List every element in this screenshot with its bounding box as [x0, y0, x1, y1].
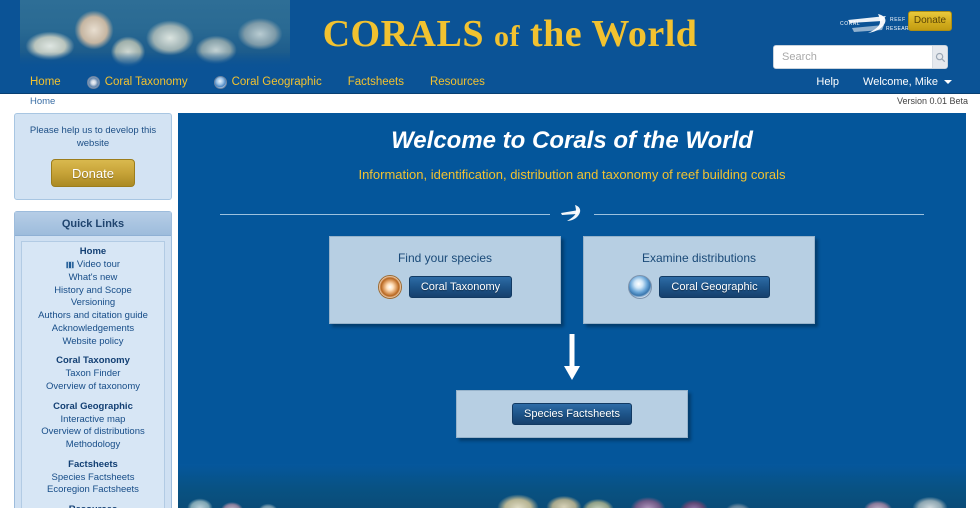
quick-links-label: What's new	[69, 272, 118, 284]
quick-links-label: Authors and citation guide	[38, 310, 148, 322]
taxonomy-seal-icon	[378, 275, 402, 299]
geographic-seal-icon	[214, 76, 227, 89]
site-header: CORALS of the World CORAL REEF RESEARCH …	[0, 0, 980, 70]
quick-links-list: HomeVideo tourWhat's newHistory and Scop…	[21, 241, 165, 508]
quick-links-item[interactable]: Interactive map	[22, 413, 164, 426]
quick-links-section-header[interactable]: Home	[22, 246, 164, 259]
main-navigation: Home Coral Taxonomy Coral Geographic Fac…	[0, 70, 980, 94]
svg-text:CORAL: CORAL	[840, 21, 860, 27]
quick-links-label: Species Factsheets	[52, 472, 135, 484]
quick-links-label: Acknowledgements	[52, 323, 134, 335]
user-menu-label: Welcome, Mike	[863, 76, 938, 88]
nav-user-area: Help Welcome, Mike	[816, 70, 952, 94]
quick-links-section-header[interactable]: Coral Geographic	[22, 400, 164, 413]
quick-links-section-header[interactable]: Coral Taxonomy	[22, 355, 164, 368]
site-title-corals: CORALS	[323, 13, 484, 55]
page-title: Welcome to Corals of the World	[178, 127, 966, 155]
version-label: Version 0.01 Beta	[897, 96, 968, 106]
geographic-seal-icon	[628, 275, 652, 299]
left-sidebar: Please help us to develop this website D…	[14, 113, 172, 508]
user-menu[interactable]: Welcome, Mike	[863, 76, 952, 88]
quick-links-label: Coral Taxonomy	[56, 355, 130, 367]
nav-item-resources[interactable]: Resources	[430, 76, 485, 88]
quick-links-label: Ecoregion Factsheets	[47, 484, 139, 496]
quick-links-item[interactable]: Versioning	[22, 297, 164, 310]
nav-item-label: Resources	[430, 76, 485, 88]
quick-links-item[interactable]: Overview of taxonomy	[22, 380, 164, 393]
factsheets-card-wrap: Species Factsheets	[178, 390, 966, 438]
breadcrumb-home[interactable]: Home	[30, 96, 55, 107]
action-cards: Find your species Coral Taxonomy Examine…	[178, 236, 966, 324]
main-content: Welcome to Corals of the World Informati…	[178, 113, 966, 508]
quick-links-item[interactable]: Species Factsheets	[22, 471, 164, 484]
divider-line-left	[220, 214, 550, 215]
species-factsheets-button[interactable]: Species Factsheets	[512, 403, 632, 425]
search-go-button[interactable]	[932, 46, 947, 68]
page-root: CORALS of the World CORAL REEF RESEARCH …	[0, 0, 980, 508]
quick-links-item[interactable]: Ecoregion Factsheets	[22, 484, 164, 497]
quick-links-label: Overview of distributions	[41, 426, 144, 438]
nav-item-label: Coral Geographic	[232, 76, 322, 88]
header-donate-button[interactable]: Donate	[908, 11, 952, 31]
card-action-row: Coral Geographic	[628, 275, 769, 299]
card-action-row: Coral Taxonomy	[378, 275, 512, 299]
search-box[interactable]	[773, 45, 948, 69]
nav-item-coral-taxonomy[interactable]: Coral Taxonomy	[87, 76, 188, 89]
site-title-the-world: the World	[530, 13, 697, 55]
quick-links-label: Home	[80, 246, 106, 258]
nav-items: Home Coral Taxonomy Coral Geographic Fac…	[30, 70, 511, 94]
quick-links-section-header[interactable]: Factsheets	[22, 458, 164, 471]
quick-links-item[interactable]: What's new	[22, 271, 164, 284]
coral-geographic-button[interactable]: Coral Geographic	[659, 276, 769, 298]
page-subtitle: Information, identification, distributio…	[178, 167, 966, 182]
video-icon	[66, 261, 74, 269]
quick-links-label: Factsheets	[68, 459, 118, 471]
sidebar-donate-button[interactable]: Donate	[51, 159, 135, 187]
quick-links-label: Interactive map	[61, 414, 126, 426]
nav-item-label: Coral Taxonomy	[105, 76, 188, 88]
quick-links-spacer	[22, 348, 164, 355]
swoosh-icon	[559, 204, 585, 227]
quick-links-label: Taxon Finder	[66, 368, 121, 380]
quick-links-item[interactable]: Taxon Finder	[22, 368, 164, 381]
card-examine-distributions[interactable]: Examine distributions Coral Geographic	[583, 236, 815, 324]
site-title: CORALS of the World	[300, 12, 720, 56]
search-input[interactable]	[774, 46, 932, 68]
quick-links-label: Video tour	[77, 259, 120, 271]
quick-links-item[interactable]: Overview of distributions	[22, 426, 164, 439]
quick-links-panel: Quick Links HomeVideo tourWhat's newHist…	[14, 211, 172, 508]
quick-links-spacer	[22, 497, 164, 504]
quick-links-label: Versioning	[71, 297, 115, 309]
quick-links-item[interactable]: Methodology	[22, 439, 164, 452]
chevron-down-icon	[944, 80, 952, 84]
coral-reef-research-logo[interactable]: CORAL REEF RESEARCH	[838, 11, 912, 37]
quick-links-label: Methodology	[66, 439, 120, 451]
nav-item-home[interactable]: Home	[30, 76, 61, 88]
flow-arrow	[178, 334, 966, 382]
section-divider	[198, 208, 946, 220]
donate-panel-text: Please help us to develop this website	[23, 124, 163, 151]
card-title: Find your species	[398, 251, 492, 265]
quick-links-item[interactable]: Video tour	[22, 258, 164, 271]
down-arrow-icon	[563, 334, 581, 382]
card-species-factsheets[interactable]: Species Factsheets	[456, 390, 688, 438]
footer-reef-image	[178, 464, 966, 508]
nav-item-factsheets[interactable]: Factsheets	[348, 76, 404, 88]
taxonomy-seal-icon	[87, 76, 100, 89]
search-icon	[935, 52, 946, 63]
help-link[interactable]: Help	[816, 76, 839, 88]
nav-item-coral-geographic[interactable]: Coral Geographic	[214, 76, 322, 89]
quick-links-item[interactable]: Acknowledgements	[22, 322, 164, 335]
quick-links-item[interactable]: Website policy	[22, 335, 164, 348]
coral-taxonomy-button[interactable]: Coral Taxonomy	[409, 276, 512, 298]
donate-panel: Please help us to develop this website D…	[14, 113, 172, 200]
quick-links-section-header[interactable]: Resources	[22, 504, 164, 508]
quick-links-label: Coral Geographic	[53, 401, 133, 413]
nav-item-label: Factsheets	[348, 76, 404, 88]
quick-links-title: Quick Links	[15, 212, 171, 236]
quick-links-label: Website policy	[62, 336, 123, 348]
header-reef-banner-image	[20, 0, 290, 70]
quick-links-label: History and Scope	[54, 285, 132, 297]
quick-links-item[interactable]: History and Scope	[22, 284, 164, 297]
quick-links-spacer	[22, 393, 164, 400]
quick-links-label: Overview of taxonomy	[46, 381, 140, 393]
breadcrumb-bar: Home Version 0.01 Beta	[0, 94, 980, 110]
divider-line-right	[594, 214, 924, 215]
quick-links-item[interactable]: Authors and citation guide	[22, 310, 164, 323]
site-title-of: of	[494, 20, 520, 53]
card-find-your-species[interactable]: Find your species Coral Taxonomy	[329, 236, 561, 324]
card-title: Examine distributions	[642, 251, 756, 265]
quick-links-label: Resources	[69, 504, 118, 508]
quick-links-spacer	[22, 451, 164, 458]
nav-item-label: Home	[30, 76, 61, 88]
svg-text:REEF: REEF	[890, 17, 906, 23]
